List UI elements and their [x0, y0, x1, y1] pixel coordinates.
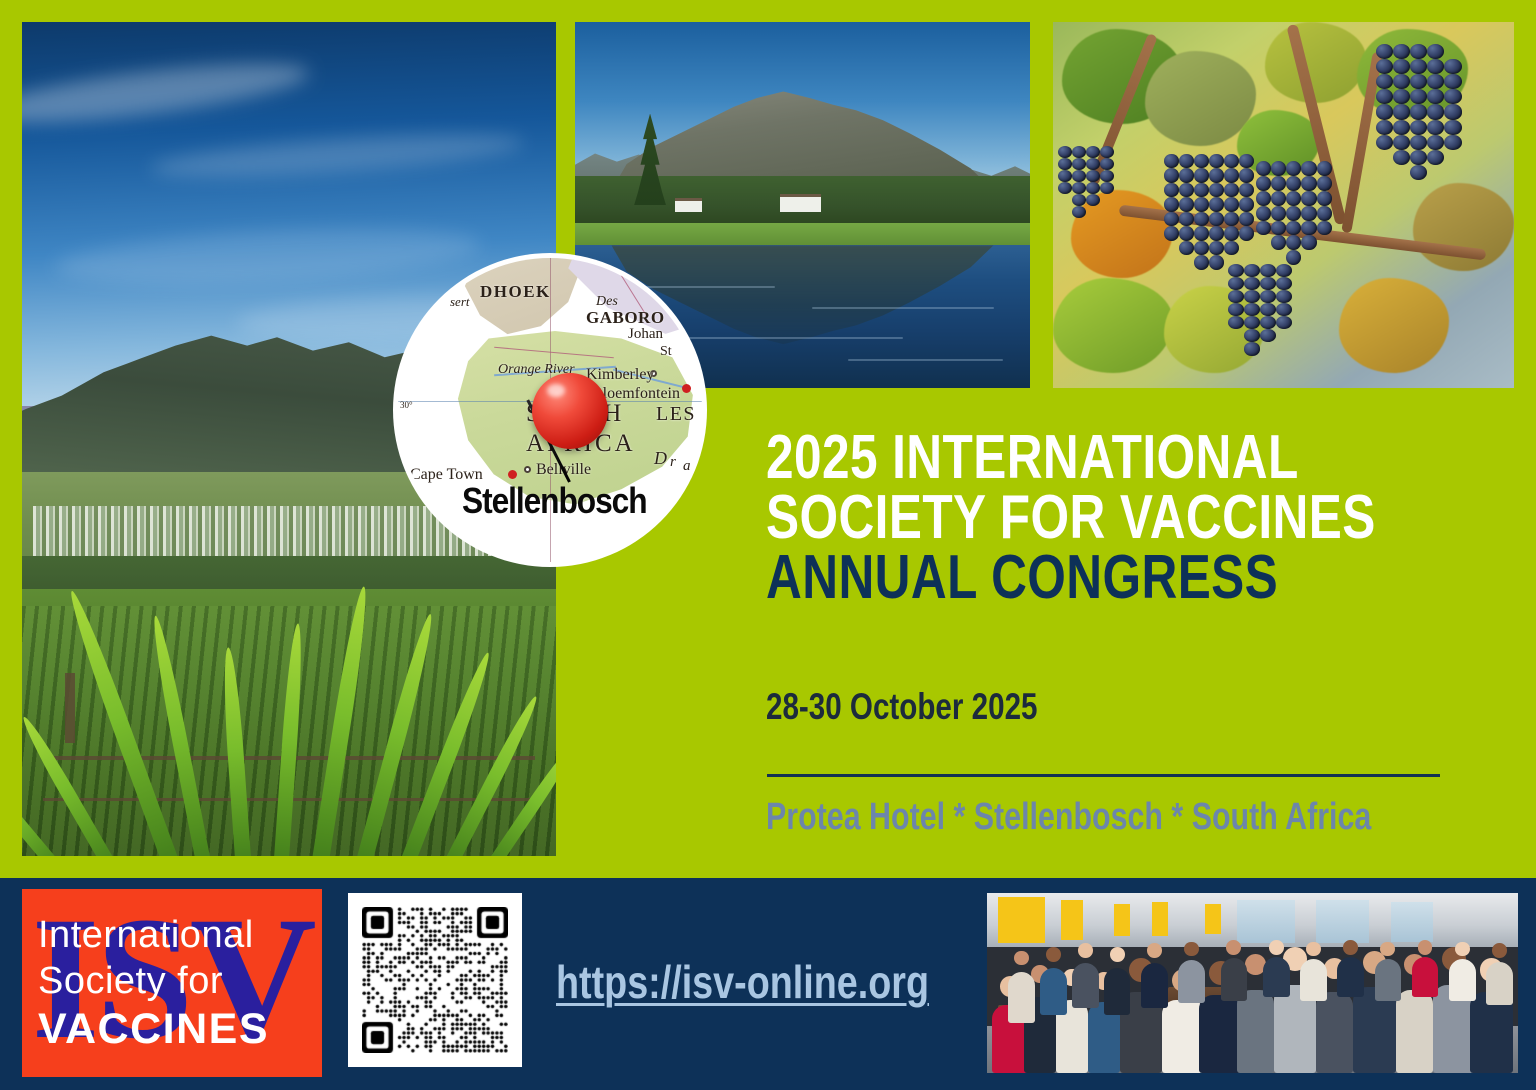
divider-rule: [767, 774, 1440, 777]
attendee: [1486, 943, 1513, 1004]
building: [675, 198, 702, 213]
grape-bunch: [1058, 146, 1114, 218]
attendee-head: [1343, 940, 1358, 955]
attendee: [1412, 940, 1439, 998]
attendee-head: [1147, 943, 1162, 958]
attendee-body: [1396, 990, 1433, 1073]
attendee-head: [1184, 942, 1199, 957]
map-place-label: LES: [656, 403, 696, 426]
attendee-head: [1380, 942, 1395, 957]
map-place-label: Johan: [628, 326, 663, 343]
city-marker-bellville: [524, 466, 531, 473]
title-line-3: ANNUAL CONGRESS: [766, 548, 1310, 608]
title-line-2: SOCIETY FOR VACCINES: [766, 488, 1310, 548]
map-place-label: D: [654, 448, 667, 469]
attendee-body: [1199, 995, 1241, 1073]
map-place-label: St: [660, 344, 672, 360]
attendee-head: [1046, 947, 1061, 962]
map-place-label: Kimberley: [586, 366, 654, 384]
attendee-body: [1008, 972, 1035, 1022]
grape-bunch: [1256, 161, 1332, 265]
yellow-panel: [1152, 902, 1168, 936]
attendee: [1104, 947, 1131, 1015]
attendee-head: [1455, 942, 1470, 957]
grape-bunch: [1164, 154, 1254, 270]
attendee-head: [1226, 940, 1241, 955]
map-place-label: GABORO: [586, 308, 665, 328]
attendee-body: [1221, 958, 1248, 1001]
attendee-body: [1162, 1000, 1204, 1073]
attendee-head: [1110, 947, 1125, 962]
attendee-body: [1300, 959, 1327, 1001]
attendee: [1337, 940, 1364, 998]
headline-block: 2025 INTERNATIONAL SOCIETY FOR VACCINES …: [766, 428, 1446, 608]
attendee-body: [1178, 960, 1205, 1003]
attendee-body: [1337, 957, 1364, 997]
attendee-head: [1418, 940, 1433, 955]
photo-conference-hall: [987, 893, 1518, 1073]
water-ripple: [848, 359, 1003, 361]
attendee-body: [1412, 957, 1439, 997]
map-pin-head: [532, 373, 608, 449]
conference-poster: DHOEKsertDesGABOROJohanStOrange RiverKim…: [0, 0, 1536, 1090]
map-place-label: 30°: [400, 400, 413, 410]
photo-wine-grapes: [1053, 22, 1514, 388]
attendee: [1449, 942, 1476, 1001]
qr-code-canvas[interactable]: [362, 907, 508, 1053]
attendee-body: [1375, 959, 1402, 1001]
website-link[interactable]: https://isv-online.org: [556, 955, 929, 1009]
isv-wordmark: International Society for VACCINES: [22, 889, 322, 1077]
isv-logo-line-1: International: [38, 913, 306, 959]
grape-bunch: [1376, 44, 1462, 180]
attendee-head: [1078, 943, 1093, 958]
map-place-label: DHOEK: [480, 282, 551, 302]
city-marker-cape-town: [508, 470, 517, 479]
yellow-panel: [1061, 900, 1082, 940]
yellow-panel: [1205, 904, 1221, 935]
grape-bunch: [1228, 264, 1292, 356]
attendee-head: [1492, 943, 1507, 958]
attendee: [1263, 940, 1290, 998]
attendee-body: [1072, 963, 1099, 1008]
qr-code[interactable]: [348, 893, 522, 1067]
attendee-body: [1040, 968, 1067, 1016]
window: [1237, 900, 1295, 943]
map-place-label: r: [670, 454, 676, 471]
attendee: [1300, 942, 1327, 1001]
attendee: [1040, 947, 1067, 1015]
map-pin-label: Stellenbosch: [462, 480, 646, 522]
attendee-body: [1237, 990, 1274, 1073]
attendee: [1141, 943, 1168, 1008]
attendee: [1375, 942, 1402, 1001]
attendee: [1178, 942, 1205, 1003]
page-title: 2025 INTERNATIONAL SOCIETY FOR VACCINES …: [766, 428, 1310, 608]
attendee: [1221, 940, 1248, 1001]
isv-logo[interactable]: ISV International Society for VACCINES: [22, 889, 322, 1077]
attendee-head: [1014, 951, 1029, 966]
map-circle-south-africa: DHOEKsertDesGABOROJohanStOrange RiverKim…: [398, 258, 702, 562]
attendee-body: [1449, 959, 1476, 1001]
yellow-panel: [1114, 904, 1130, 936]
attendee-body: [1263, 957, 1290, 997]
fence-post: [65, 673, 75, 743]
map-place-label: a: [683, 458, 691, 475]
congress-venue: Protea Hotel * Stellenbosch * South Afri…: [766, 796, 1371, 839]
attendee-head: [1306, 942, 1321, 957]
isv-logo-line-3: VACCINES: [38, 1005, 306, 1053]
window: [1316, 900, 1369, 943]
building: [780, 194, 821, 212]
window: [1391, 902, 1433, 942]
attendee-head: [1269, 940, 1284, 955]
yellow-panel: [998, 897, 1046, 944]
attendee-body: [1104, 968, 1131, 1016]
attendee-body: [1141, 963, 1168, 1008]
map-place-label: sert: [450, 294, 470, 310]
attendee: [1072, 943, 1099, 1008]
attendee: [1008, 951, 1035, 1023]
attendee-body: [1486, 962, 1513, 1005]
congress-dates: 28-30 October 2025: [766, 686, 1037, 728]
city-marker-red: [682, 384, 691, 393]
attendee-body: [1316, 992, 1353, 1073]
isv-logo-line-2: Society for: [38, 959, 306, 1005]
title-line-1: 2025 INTERNATIONAL: [766, 428, 1310, 488]
